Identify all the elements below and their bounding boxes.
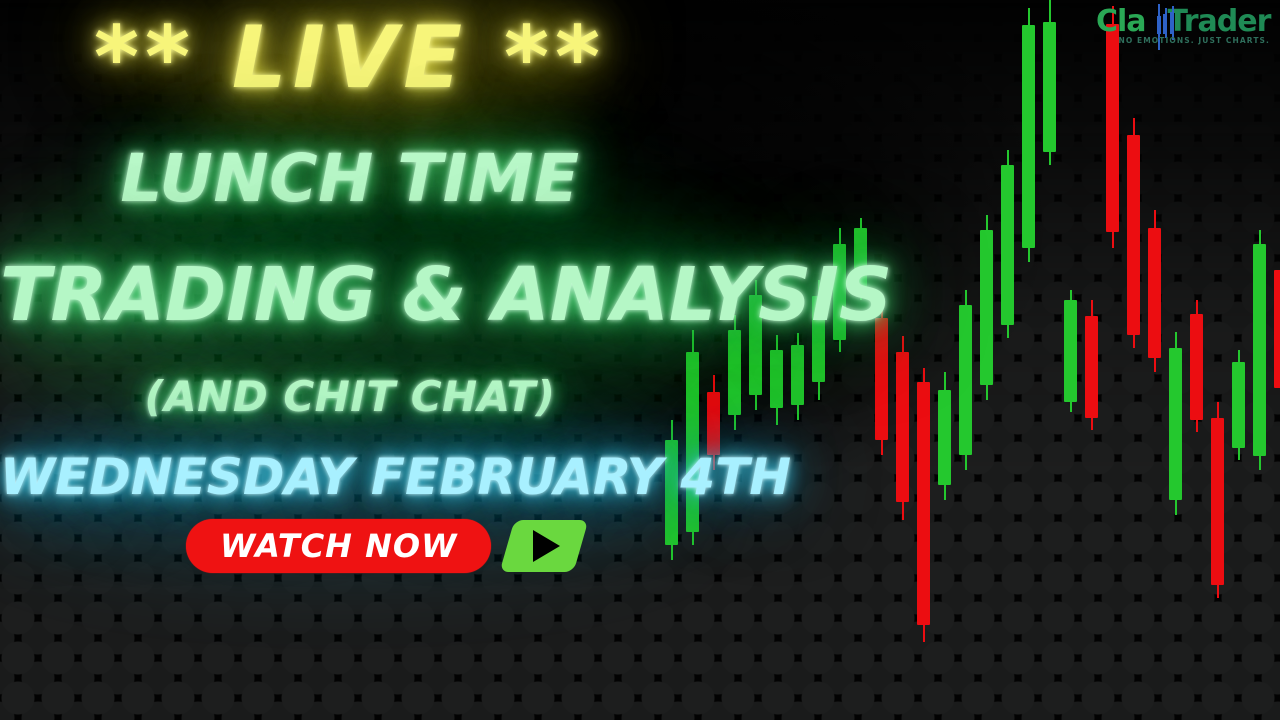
candle-22 — [1127, 0, 1140, 720]
candle-body — [1022, 25, 1035, 248]
title-line-2: TRADING & ANALYSIS — [0, 252, 700, 338]
candle-body — [917, 382, 930, 625]
candle-7 — [812, 0, 825, 720]
brand-logo: ClaTrader NO EMOTIONS. JUST CHARTS. — [1096, 4, 1272, 52]
stream-date: WEDNESDAY FEBRUARY 4TH — [0, 448, 700, 506]
candle-body — [1169, 348, 1182, 500]
cta-group: WATCH NOW — [186, 518, 581, 574]
candle-body — [1043, 22, 1056, 152]
candle-body — [1085, 316, 1098, 418]
candle-body — [728, 330, 741, 415]
candle-body — [959, 305, 972, 455]
candle-body — [1001, 165, 1014, 325]
candle-body — [938, 390, 951, 485]
brand-wordmark-part2: Trader — [1168, 4, 1271, 39]
candle-10 — [875, 0, 888, 720]
brand-tagline: NO EMOTIONS. JUST CHARTS. — [1118, 36, 1270, 45]
candle-21 — [1106, 0, 1119, 720]
brand-wordmark: ClaTrader — [1096, 4, 1272, 38]
candle-body — [791, 345, 804, 405]
candle-26 — [1211, 0, 1224, 720]
candle-body — [1127, 135, 1140, 335]
candle-11 — [896, 0, 909, 720]
candle-2 — [707, 0, 720, 720]
candle-body — [1274, 270, 1280, 388]
candlestick-chart — [655, 0, 1280, 720]
candle-body — [896, 352, 909, 502]
candle-8 — [833, 0, 846, 720]
candle-body — [1106, 24, 1119, 232]
logo-candle-body-3 — [1170, 12, 1174, 34]
candle-4 — [749, 0, 762, 720]
brand-wordmark-part1: Cla — [1096, 4, 1146, 39]
candle-6 — [791, 0, 804, 720]
candle-13 — [938, 0, 951, 720]
subtitle: (AND CHIT CHAT) — [0, 372, 700, 421]
play-button-badge[interactable] — [500, 520, 589, 572]
headline-block: ** LIVE ** LUNCH TIME TRADING & ANALYSIS… — [0, 0, 700, 720]
candle-16 — [1001, 0, 1014, 720]
thumbnail-canvas: ** LIVE ** LUNCH TIME TRADING & ANALYSIS… — [0, 0, 1280, 720]
candle-3 — [728, 0, 741, 720]
candle-27 — [1232, 0, 1245, 720]
candle-24 — [1169, 0, 1182, 720]
candle-9 — [854, 0, 867, 720]
live-banner: ** LIVE ** — [0, 8, 700, 108]
candle-body — [1148, 228, 1161, 358]
candle-body — [1211, 418, 1224, 585]
candle-23 — [1148, 0, 1161, 720]
candle-14 — [959, 0, 972, 720]
watch-now-button[interactable]: WATCH NOW — [186, 519, 491, 573]
candle-body — [1253, 244, 1266, 456]
candle-19 — [1064, 0, 1077, 720]
candle-body — [1190, 314, 1203, 420]
candle-18 — [1043, 0, 1056, 720]
play-triangle-icon — [533, 530, 560, 562]
candle-29 — [1274, 0, 1280, 720]
logo-candle-body-2 — [1163, 14, 1167, 34]
candle-17 — [1022, 0, 1035, 720]
title-line-1: LUNCH TIME — [0, 140, 700, 217]
candle-12 — [917, 0, 930, 720]
candle-body — [707, 392, 720, 455]
logo-candle-body-1 — [1157, 16, 1161, 34]
candle-5 — [770, 0, 783, 720]
candle-body — [770, 350, 783, 408]
candle-body — [1232, 362, 1245, 448]
candle-28 — [1253, 0, 1266, 720]
candle-20 — [1085, 0, 1098, 720]
candle-15 — [980, 0, 993, 720]
candle-body — [1064, 300, 1077, 402]
candle-25 — [1190, 0, 1203, 720]
candle-body — [980, 230, 993, 385]
